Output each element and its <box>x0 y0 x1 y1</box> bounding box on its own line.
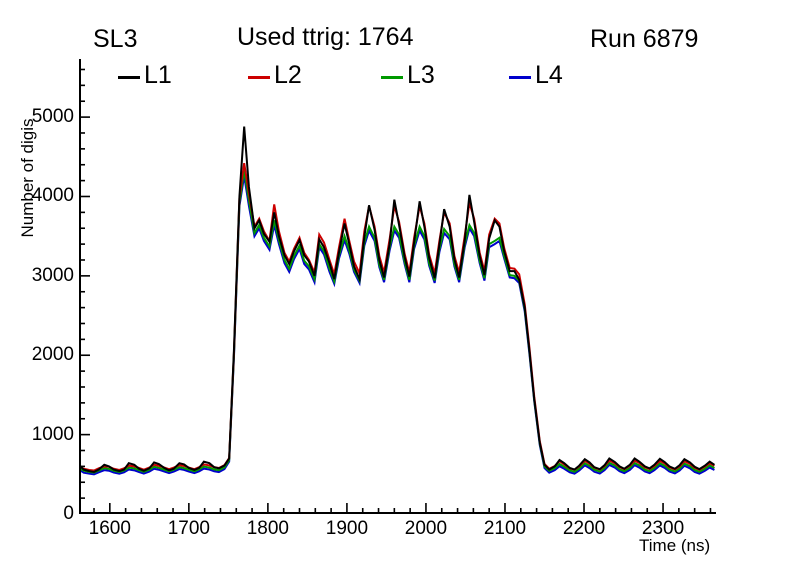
chart-title: Used ttrig: 1764 <box>237 25 414 50</box>
y-tick-label: 0 <box>63 503 74 525</box>
x-tick-label: 1900 <box>326 518 368 540</box>
y-tick-label: 3000 <box>32 265 74 287</box>
x-tick-label: 1700 <box>168 518 210 540</box>
x-tick-label: 2300 <box>642 518 684 540</box>
y-tick-label: 2000 <box>32 344 74 366</box>
x-tick-label: 2100 <box>484 518 526 540</box>
run-label: Run 6879 <box>590 27 698 52</box>
x-tick-label: 2000 <box>405 518 447 540</box>
x-tick-label: 2200 <box>563 518 605 540</box>
y-tick-label: 4000 <box>32 185 74 207</box>
y-tick-label: 1000 <box>32 424 74 446</box>
superlayer-label: SL3 <box>93 27 137 52</box>
x-tick-label: 1800 <box>247 518 289 540</box>
chart-canvas: SL3 Used ttrig: 1764 Run 6879 Number of … <box>0 0 796 572</box>
y-tick-label: 5000 <box>32 106 74 128</box>
x-tick-label: 1600 <box>89 518 131 540</box>
plot-frame <box>79 59 716 514</box>
